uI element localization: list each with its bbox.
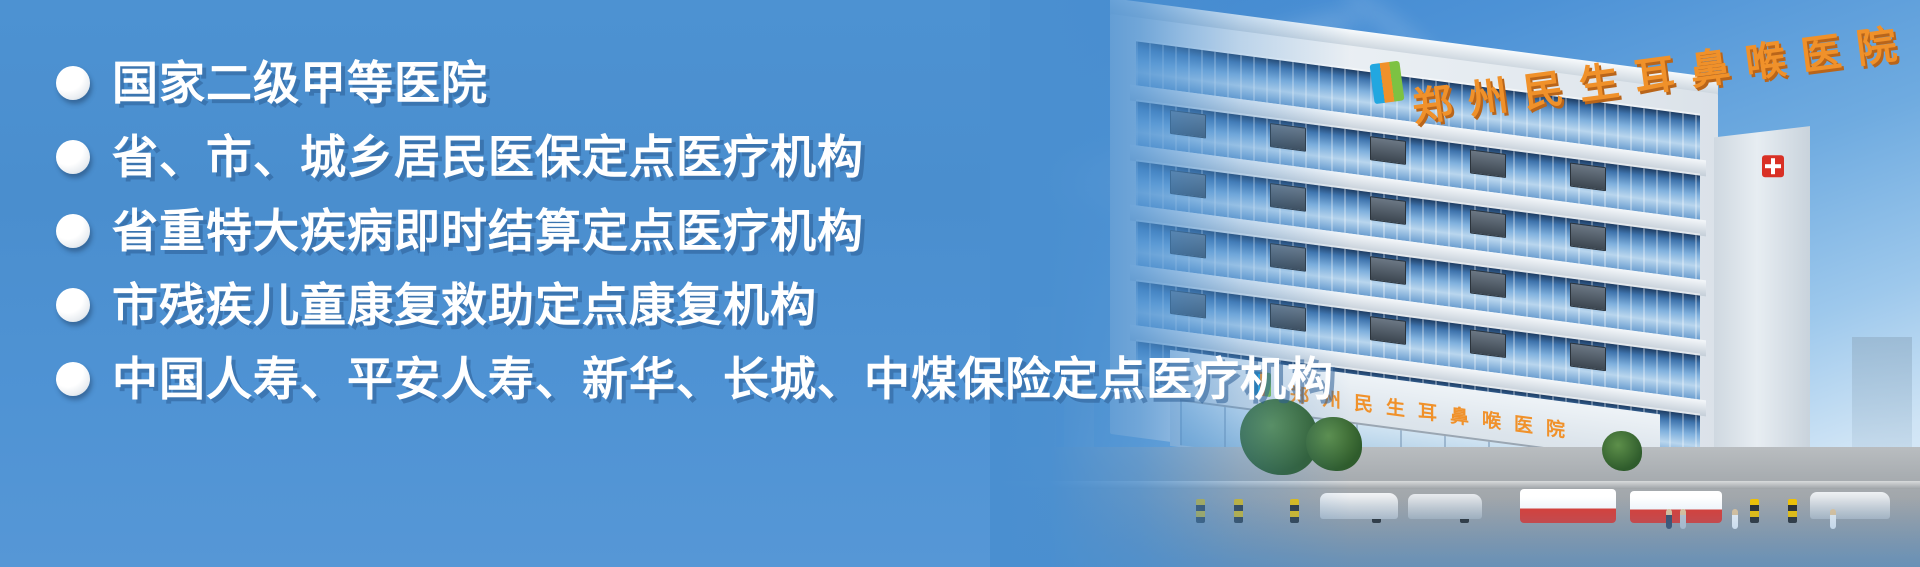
air-conditioner-unit: [1370, 196, 1406, 225]
air-conditioner-unit: [1370, 136, 1406, 165]
credential-text: 中国人寿、平安人寿、新华、长城、中煤保险定点医疗机构: [112, 356, 1334, 402]
pedestrian: [1830, 509, 1836, 529]
tree: [1602, 431, 1642, 471]
pedestrian: [1680, 509, 1686, 529]
air-conditioner-unit: [1370, 316, 1406, 345]
credentials-list: 国家二级甲等医院 省、市、城乡居民医保定点医疗机构 省重特大疾病即时结算定点医疗…: [56, 46, 1334, 416]
ambulance: [1630, 491, 1722, 523]
tree: [1306, 417, 1362, 471]
car: [1408, 494, 1482, 519]
bullet-dot-icon: [56, 66, 90, 100]
bullet-dot-icon: [56, 288, 90, 322]
list-item: 市残疾儿童康复救助定点康复机构: [56, 268, 1334, 342]
credential-text: 国家二级甲等医院: [112, 60, 488, 106]
pedestrian: [1732, 509, 1738, 529]
list-item: 中国人寿、平安人寿、新华、长城、中煤保险定点医疗机构: [56, 342, 1334, 416]
bullet-dot-icon: [56, 140, 90, 174]
list-item: 省重特大疾病即时结算定点医疗机构: [56, 194, 1334, 268]
air-conditioner-unit: [1370, 256, 1406, 285]
list-item: 国家二级甲等医院: [56, 46, 1334, 120]
bollard: [1290, 499, 1299, 523]
bollard: [1196, 499, 1205, 523]
bullet-dot-icon: [56, 362, 90, 396]
hospital-logo-icon: [1370, 61, 1405, 105]
bullet-dot-icon: [56, 214, 90, 248]
credential-text: 省、市、城乡居民医保定点医疗机构: [112, 134, 864, 180]
air-conditioner-unit: [1470, 149, 1506, 178]
ambulance: [1520, 489, 1616, 523]
credential-text: 省重特大疾病即时结算定点医疗机构: [112, 208, 864, 254]
air-conditioner-unit: [1570, 342, 1606, 371]
background-tower: [1852, 337, 1912, 457]
air-conditioner-unit: [1570, 282, 1606, 311]
bollard: [1750, 499, 1759, 523]
bollard: [1788, 499, 1797, 523]
air-conditioner-unit: [1570, 162, 1606, 191]
pedestrian: [1666, 509, 1672, 529]
air-conditioner-unit: [1470, 209, 1506, 238]
red-cross-icon: [1762, 155, 1784, 177]
list-item: 省、市、城乡居民医保定点医疗机构: [56, 120, 1334, 194]
car: [1810, 492, 1890, 519]
credential-text: 市残疾儿童康复救助定点康复机构: [112, 282, 817, 328]
air-conditioner-unit: [1470, 269, 1506, 298]
air-conditioner-unit: [1470, 329, 1506, 358]
curb: [990, 481, 1920, 489]
car: [1320, 493, 1398, 519]
bollard: [1234, 499, 1243, 523]
air-conditioner-unit: [1570, 222, 1606, 251]
hospital-credentials-banner: 郑州民生耳鼻喉医院 郑州民生耳鼻喉医院: [0, 0, 1920, 567]
